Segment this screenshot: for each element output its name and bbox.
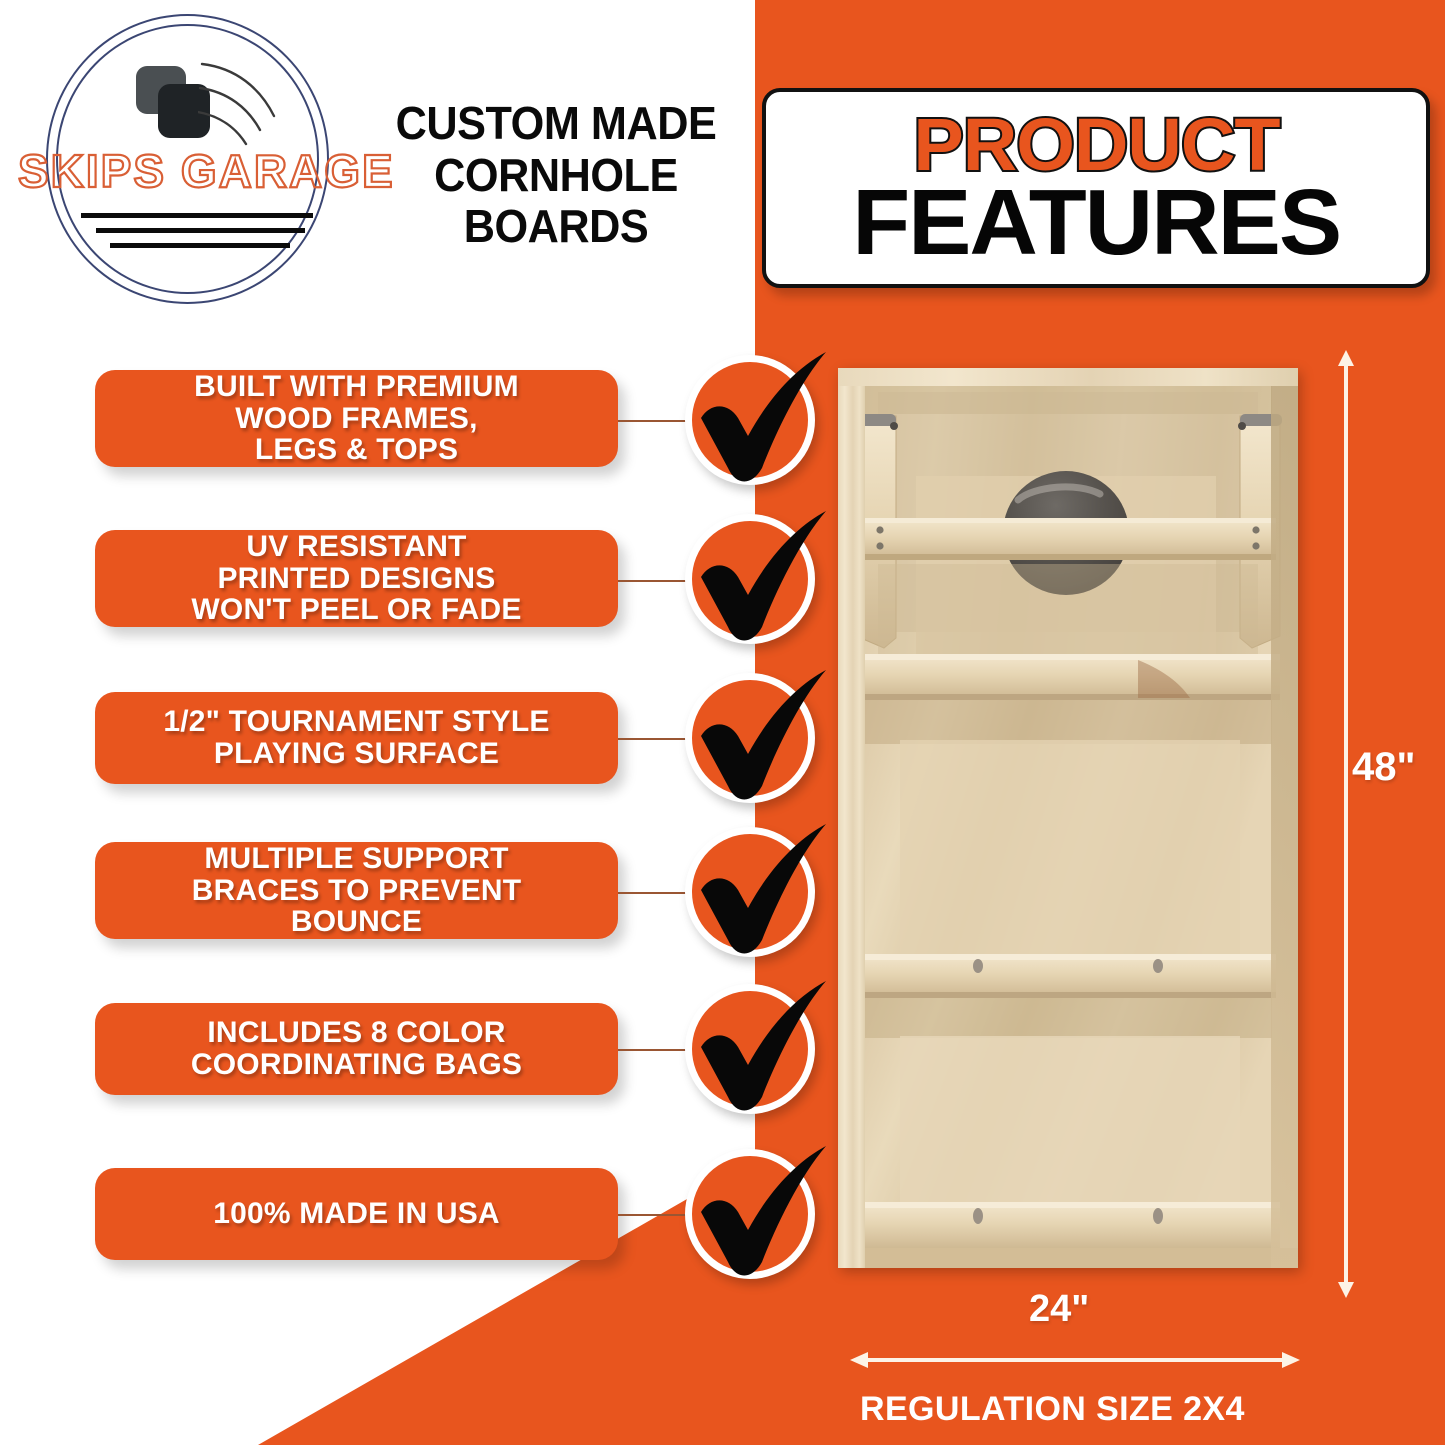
logo-rule-2 <box>96 228 305 233</box>
logo-rule-3 <box>110 243 290 248</box>
feature-pill-4[interactable]: MULTIPLE SUPPORT BRACES TO PREVENT BOUNC… <box>95 842 618 939</box>
infographic-canvas: SKIPS GARAGE CUSTOM MADE CORNHOLE BOARDS… <box>0 0 1445 1445</box>
check-icon <box>676 812 846 972</box>
check-icon <box>676 969 846 1129</box>
regulation-size-note: REGULATION SIZE 2X4 <box>860 1390 1245 1429</box>
feature-label-1: BUILT WITH PREMIUM WOOD FRAMES, LEGS & T… <box>194 371 519 466</box>
feature-pill-3[interactable]: 1/2" TOURNAMENT STYLE PLAYING SURFACE <box>95 692 618 784</box>
height-dimension-arrow <box>1334 350 1358 1300</box>
check-icon <box>676 1134 846 1294</box>
feature-label-6: 100% MADE IN USA <box>213 1198 500 1230</box>
page-title-line-1: CUSTOM MADE <box>372 98 740 150</box>
feature-label-5: INCLUDES 8 COLOR COORDINATING BAGS <box>191 1017 522 1081</box>
feature-check-circle-6 <box>685 1149 815 1279</box>
check-icon <box>676 340 846 500</box>
height-dimension-label: 48" <box>1352 745 1415 790</box>
check-icon <box>676 658 846 818</box>
feature-pill-5[interactable]: INCLUDES 8 COLOR COORDINATING BAGS <box>95 1003 618 1095</box>
logo-rule-1 <box>81 213 313 218</box>
feature-check-circle-5 <box>685 984 815 1114</box>
check-icon <box>676 499 846 659</box>
feature-check-circle-4 <box>685 827 815 957</box>
logo-wordmark: SKIPS GARAGE <box>18 148 358 194</box>
cornhole-board-photo <box>838 368 1298 1268</box>
width-dimension-arrow <box>850 1348 1300 1372</box>
plaque-title-features: FEATURES <box>852 178 1340 267</box>
feature-pill-2[interactable]: UV RESISTANT PRINTED DESIGNS WON'T PEEL … <box>95 530 618 627</box>
product-features-plaque: PRODUCT FEATURES <box>762 88 1430 288</box>
page-title-line-3: BOARDS <box>372 201 740 253</box>
feature-label-3: 1/2" TOURNAMENT STYLE PLAYING SURFACE <box>163 706 549 770</box>
feature-check-circle-2 <box>685 514 815 644</box>
feature-check-circle-3 <box>685 673 815 803</box>
width-dimension-label: 24" <box>1029 1288 1089 1331</box>
page-title-line-2: CORNHOLE <box>372 150 740 202</box>
motion-arcs-icon <box>198 58 298 148</box>
feature-pill-1[interactable]: BUILT WITH PREMIUM WOOD FRAMES, LEGS & T… <box>95 370 618 467</box>
brand-logo[interactable]: SKIPS GARAGE <box>18 8 358 308</box>
feature-check-circle-1 <box>685 355 815 485</box>
feature-label-4: MULTIPLE SUPPORT BRACES TO PREVENT BOUNC… <box>192 843 522 938</box>
feature-label-2: UV RESISTANT PRINTED DESIGNS WON'T PEEL … <box>191 531 521 626</box>
page-title: CUSTOM MADE CORNHOLE BOARDS <box>372 98 740 253</box>
feature-pill-6[interactable]: 100% MADE IN USA <box>95 1168 618 1260</box>
